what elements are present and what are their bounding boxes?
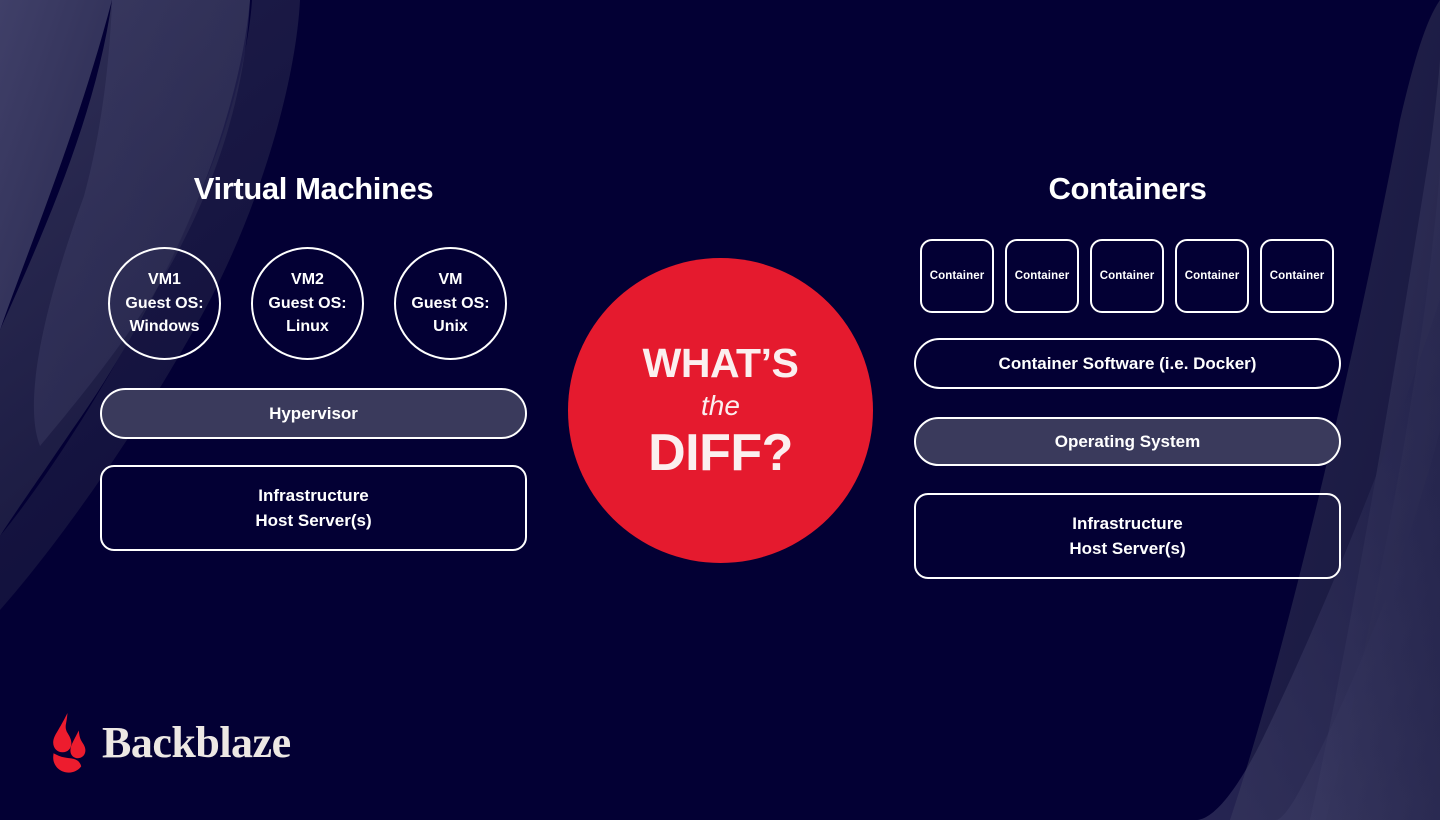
vm-node-3-os: Unix	[433, 315, 468, 339]
infrastructure-layer-left: Infrastructure Host Server(s)	[100, 465, 527, 551]
infrastructure-layer-right-line2: Host Server(s)	[1069, 536, 1185, 562]
infographic-canvas: Virtual Machines VM1 Guest OS: Windows V…	[0, 0, 1440, 820]
hypervisor-layer: Hypervisor	[100, 388, 527, 439]
container-chip-5: Container	[1260, 239, 1334, 313]
container-chip-3-label: Container	[1100, 270, 1155, 282]
vm-node-3-os-label: Guest OS:	[411, 292, 489, 316]
container-chip-2: Container	[1005, 239, 1079, 313]
vm-node-2-os-label: Guest OS:	[268, 292, 346, 316]
containers-title: Containers	[914, 171, 1341, 207]
whats-the-diff-badge: WHAT’S the DIFF?	[568, 258, 873, 563]
container-chip-1: Container	[920, 239, 994, 313]
infrastructure-layer-right-line1: Infrastructure	[1072, 511, 1183, 537]
operating-system-layer-label: Operating System	[1055, 432, 1201, 452]
container-chip-4-label: Container	[1185, 270, 1240, 282]
vm-node-3: VM Guest OS: Unix	[394, 247, 507, 360]
container-chip-3: Container	[1090, 239, 1164, 313]
hypervisor-layer-label: Hypervisor	[269, 404, 358, 424]
virtual-machines-title: Virtual Machines	[100, 171, 527, 207]
vm-node-2-os: Linux	[286, 315, 329, 339]
container-chip-4: Container	[1175, 239, 1249, 313]
badge-line-the: the	[701, 385, 740, 427]
container-chip-1-label: Container	[930, 270, 985, 282]
container-software-layer: Container Software (i.e. Docker)	[914, 338, 1341, 389]
backblaze-wordmark: Backblaze	[102, 721, 291, 765]
vm-node-1: VM1 Guest OS: Windows	[108, 247, 221, 360]
vm-node-1-os-label: Guest OS:	[125, 292, 203, 316]
flame-icon	[50, 712, 90, 774]
container-software-layer-label: Container Software (i.e. Docker)	[999, 354, 1257, 374]
backblaze-logo: Backblaze	[50, 712, 291, 774]
badge-line-whats: WHAT’S	[643, 342, 799, 385]
vm-node-1-name: VM1	[148, 268, 181, 292]
infrastructure-layer-left-line2: Host Server(s)	[255, 508, 371, 534]
vm-node-2-name: VM2	[291, 268, 324, 292]
container-chip-5-label: Container	[1270, 270, 1325, 282]
vm-node-3-name: VM	[439, 268, 463, 292]
operating-system-layer: Operating System	[914, 417, 1341, 466]
container-chip-2-label: Container	[1015, 270, 1070, 282]
infrastructure-layer-right: Infrastructure Host Server(s)	[914, 493, 1341, 579]
infrastructure-layer-left-line1: Infrastructure	[258, 483, 369, 509]
vm-node-1-os: Windows	[129, 315, 199, 339]
vm-node-2: VM2 Guest OS: Linux	[251, 247, 364, 360]
badge-line-diff: DIFF?	[648, 427, 793, 479]
